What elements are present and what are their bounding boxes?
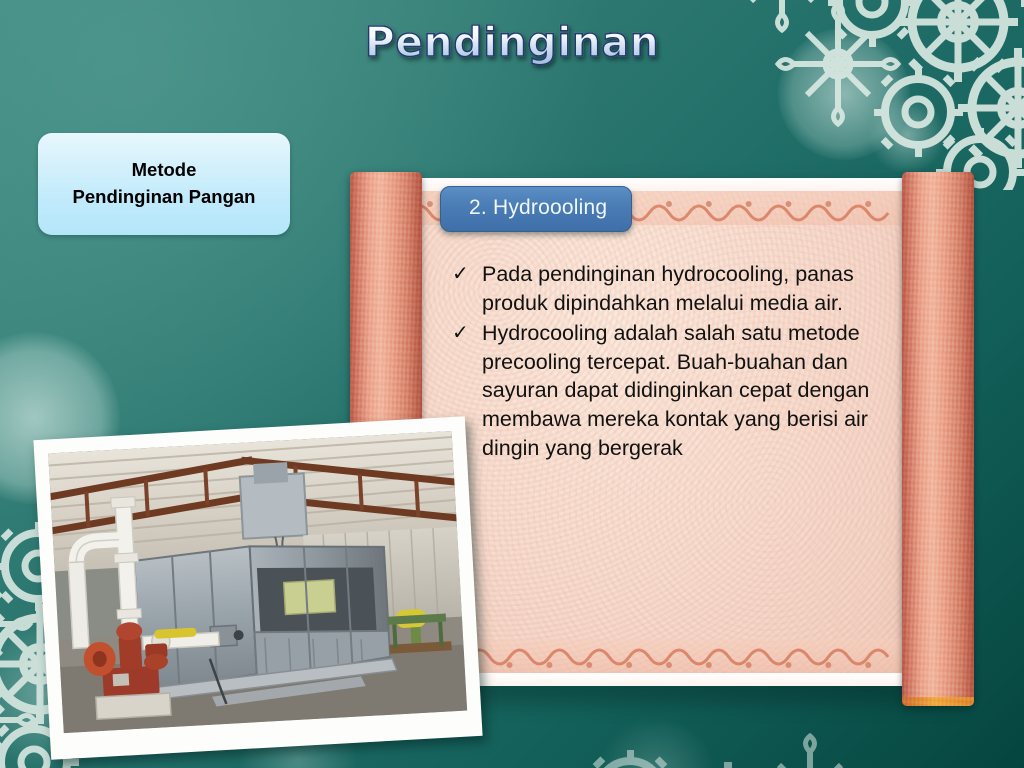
- list-item-text: Hydrocooling adalah salah satu metode pr…: [482, 319, 904, 462]
- presentation-slide: Pendinginan Metode Pendinginan Pangan: [0, 0, 1024, 768]
- checkmark-icon: ✓: [452, 260, 470, 287]
- parchment-bottom-strip: [410, 673, 908, 686]
- bokeh-light-top-right-small: [868, 96, 946, 174]
- ornament-band-bottom: [410, 639, 908, 673]
- section-badge: 2. Hydroooling: [440, 186, 632, 232]
- scroll-roll-right-cap: [902, 697, 974, 706]
- scroll-roll-right: [902, 172, 974, 706]
- list-item: ✓ Hydrocooling adalah salah satu metode …: [452, 319, 904, 462]
- method-callout-label: Metode Pendinginan Pangan: [73, 157, 256, 211]
- slide-title-container: Pendinginan: [0, 18, 1024, 66]
- checkmark-icon: ✓: [452, 319, 470, 346]
- method-callout-box: Metode Pendinginan Pangan: [38, 133, 290, 235]
- bullet-list: ✓ Pada pendinginan hydrocooling, panas p…: [452, 260, 904, 464]
- list-item: ✓ Pada pendinginan hydrocooling, panas p…: [452, 260, 904, 317]
- section-badge-label: 2. Hydroooling: [469, 196, 607, 219]
- list-item-text: Pada pendinginan hydrocooling, panas pro…: [482, 260, 904, 317]
- hydrocooler-photo-frame: [33, 416, 482, 760]
- hydrocooler-photo: [48, 431, 467, 733]
- bokeh-light-bottom-center: [596, 716, 716, 768]
- slide-title: Pendinginan: [365, 18, 660, 66]
